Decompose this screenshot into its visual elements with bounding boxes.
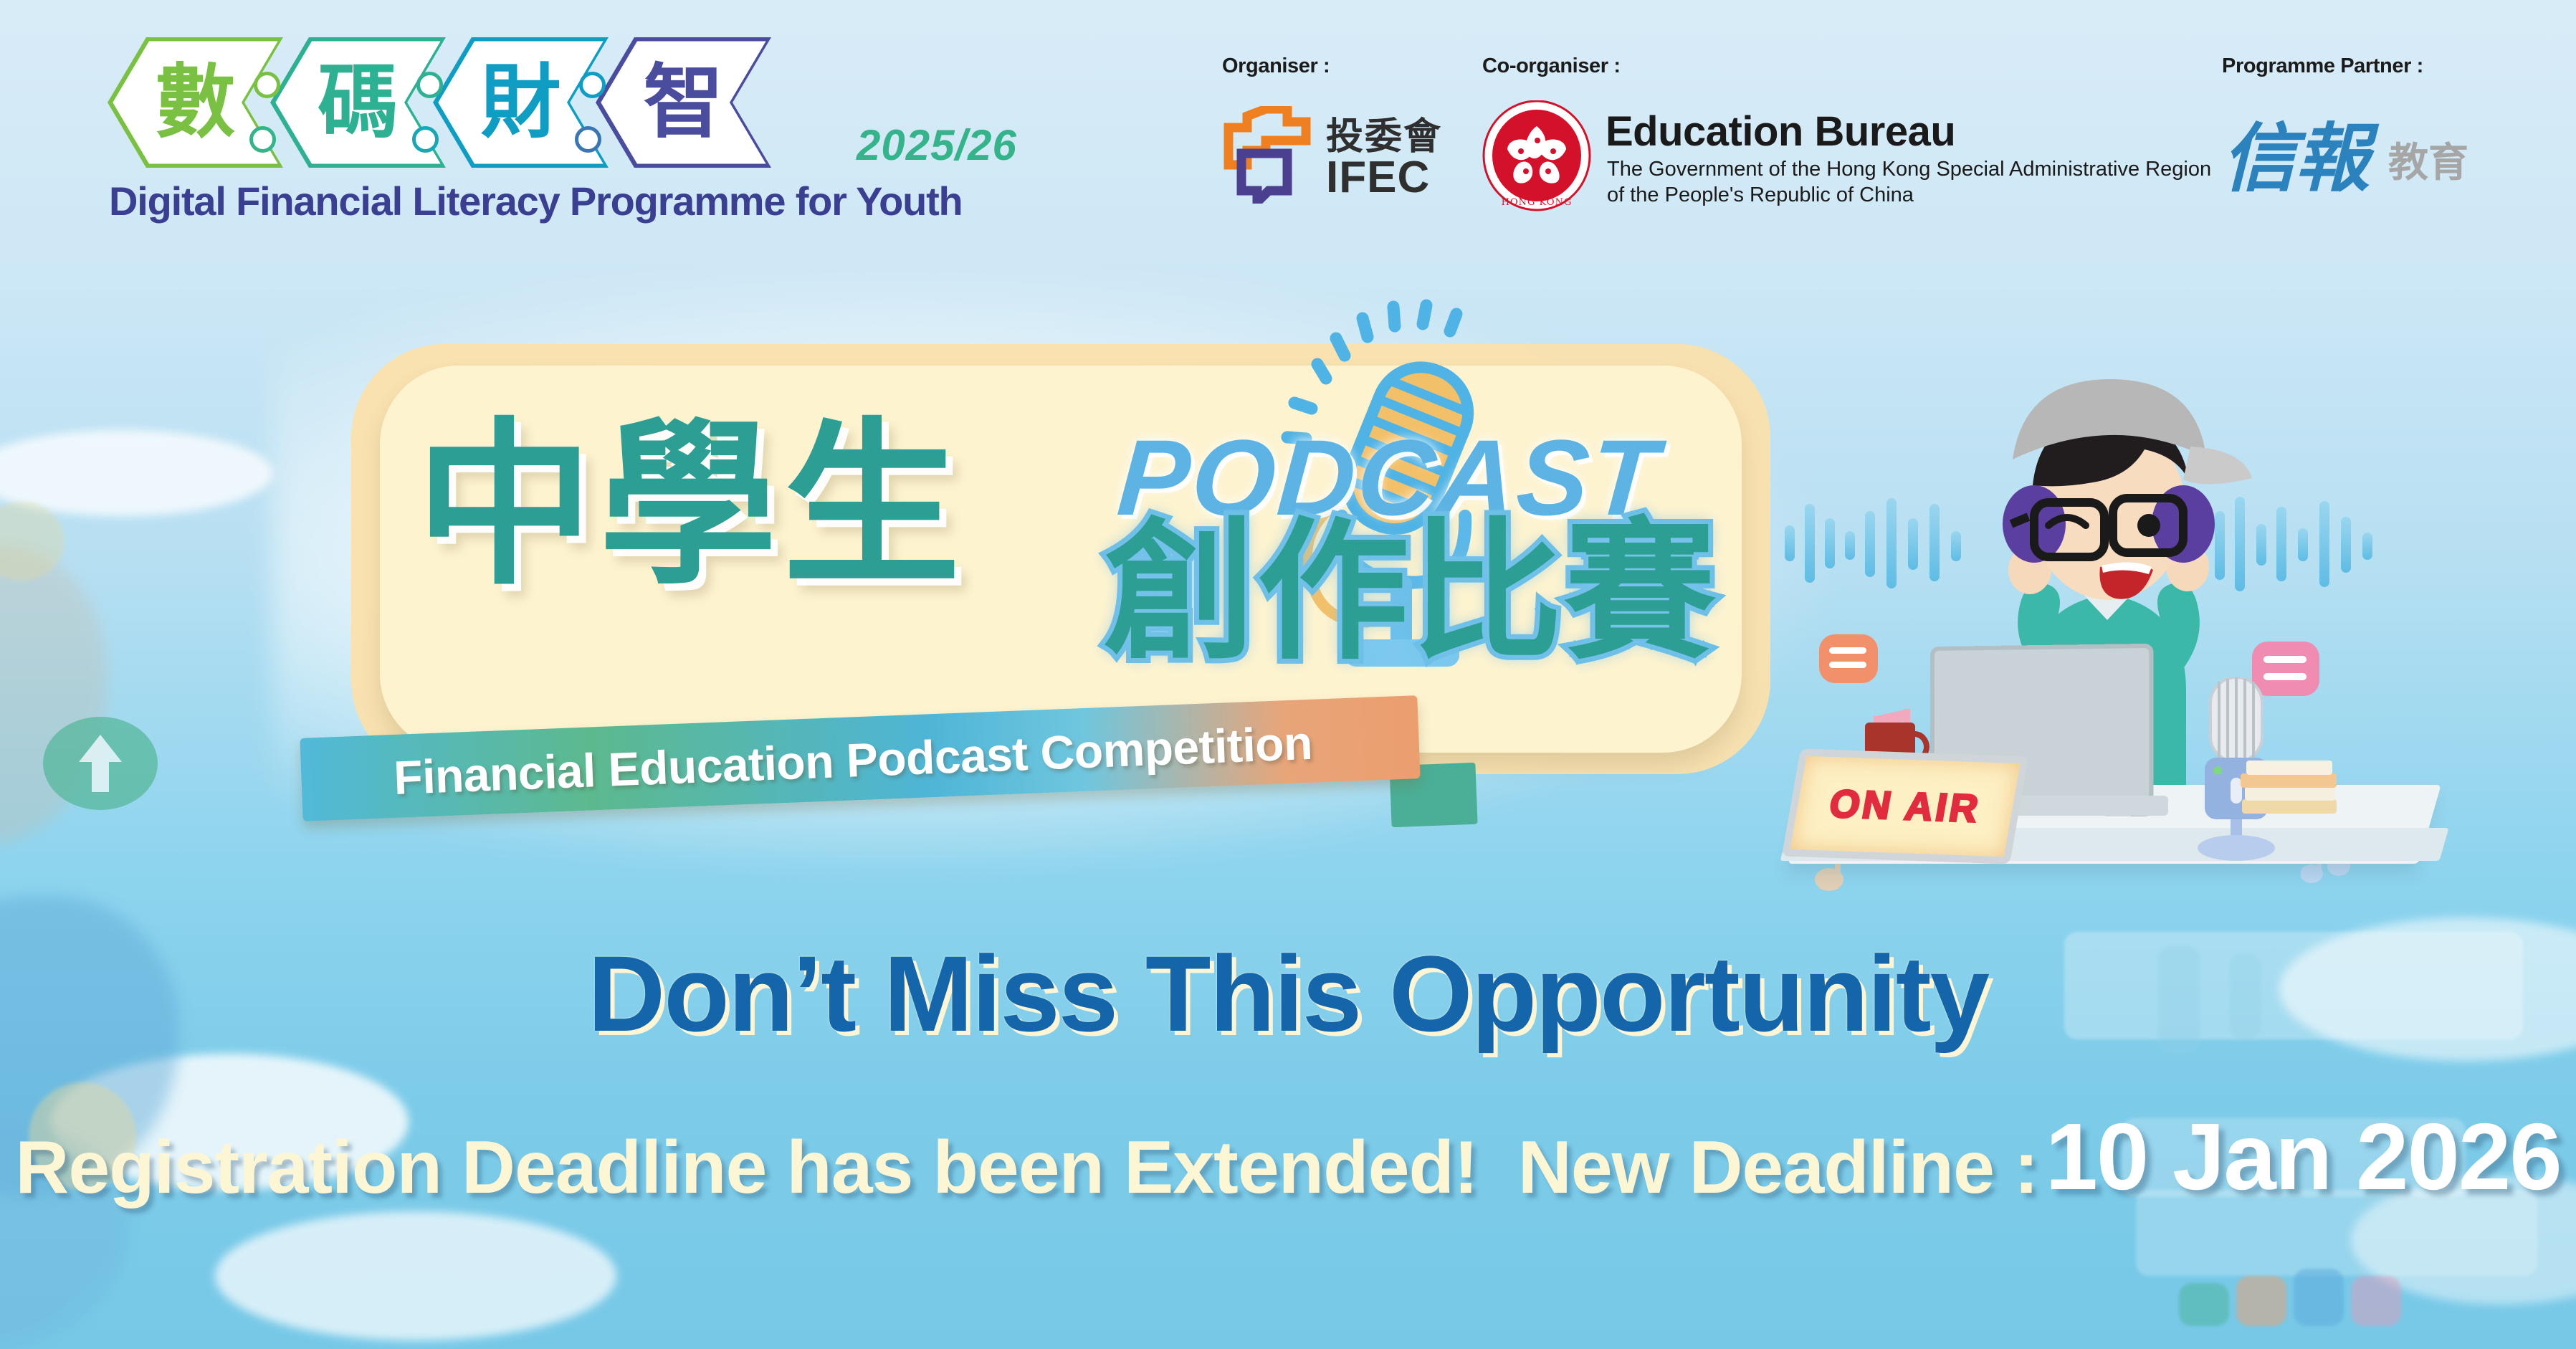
ifec-logo: 投委會 IFEC — [1221, 102, 1444, 209]
hexagon-row: 數 碼 財 智 — [108, 37, 831, 170]
waveform-icon — [1865, 511, 1875, 577]
book-shape — [2351, 1276, 2401, 1326]
waveform-icon — [1845, 531, 1855, 560]
organiser-label: Organiser : — [1222, 54, 1330, 78]
hksar-emblem-icon: HONG KONG — [1482, 100, 1591, 211]
waveform-icon — [2298, 528, 2308, 561]
deadline-row: Registration Deadline has been Extended!… — [0, 1102, 2576, 1211]
book-shape — [2294, 1269, 2344, 1326]
ifec-english: IFEC — [1326, 152, 1430, 203]
podcaster-illustration: ON AIR — [1756, 326, 2552, 907]
waveform-icon — [2362, 533, 2372, 560]
hero-chinese-sub: 創作比賽 — [1104, 516, 1717, 668]
waveform-icon — [2341, 517, 2351, 573]
new-deadline-date: 10 Jan 2026 — [2045, 1102, 2560, 1211]
waveform-icon — [1805, 504, 1815, 583]
programme-logo: 數 碼 財 智 2025/26 Digital Financial Litera… — [108, 37, 1025, 202]
education-bureau-line1: The Government of the Hong Kong Special … — [1607, 158, 2211, 181]
hexagon-char-4: 智 — [596, 37, 771, 168]
hkej-brand: 信報 — [2222, 97, 2368, 206]
education-bureau-logo: HONG KONG Education Bureau The Governmen… — [1482, 100, 2163, 215]
connector-node-icon — [416, 72, 443, 98]
waveform-icon — [1825, 518, 1835, 568]
svg-text:HONG KONG: HONG KONG — [1502, 197, 1573, 208]
hero-chinese-main: 中學生 — [416, 417, 966, 595]
connector-node-icon — [249, 126, 276, 153]
book-stack-icon — [2236, 756, 2329, 817]
cloud-icon — [0, 430, 272, 516]
connector-node-icon — [254, 72, 280, 98]
waveform-icon — [1886, 498, 1897, 588]
education-bureau-line2: of the People's Republic of China — [1607, 183, 1914, 207]
waveform-icon — [2319, 501, 2329, 587]
connector-node-icon — [575, 126, 601, 153]
chat-bubble-icon — [1819, 634, 1878, 683]
connector-node-icon — [579, 72, 606, 98]
waveform-icon — [1785, 525, 1795, 561]
new-deadline-label: New Deadline : — [1518, 1125, 2038, 1211]
headline: Don’t Miss This Opportunity — [0, 932, 2576, 1056]
coorganiser-label: Co-organiser : — [1482, 54, 1621, 78]
deadline-extended-text: Registration Deadline has been Extended! — [15, 1125, 1477, 1211]
cloud-icon — [215, 1211, 616, 1340]
programme-year: 2025/26 — [857, 120, 1017, 170]
on-air-text: ON AIR — [1826, 781, 1985, 831]
up-arrow-badge-icon — [43, 717, 158, 810]
programme-subtitle: Digital Financial Literacy Programme for… — [109, 178, 963, 224]
connector-node-icon — [412, 126, 439, 153]
hero-title-lockup: 中學生 — [337, 337, 1770, 796]
hkej-suffix: 教育 — [2388, 130, 2468, 189]
ifec-mark-icon — [1221, 106, 1316, 204]
hkej-logo: 信報 教育 — [2222, 108, 2523, 208]
book-shape — [2179, 1283, 2229, 1326]
education-bureau-title: Education Bureau — [1606, 108, 1955, 156]
waveform-icon — [1908, 518, 1918, 570]
programme-partner-label: Programme Partner : — [2222, 54, 2423, 78]
on-air-sign: ON AIR — [1782, 748, 2028, 864]
book-shape — [2236, 1276, 2286, 1326]
